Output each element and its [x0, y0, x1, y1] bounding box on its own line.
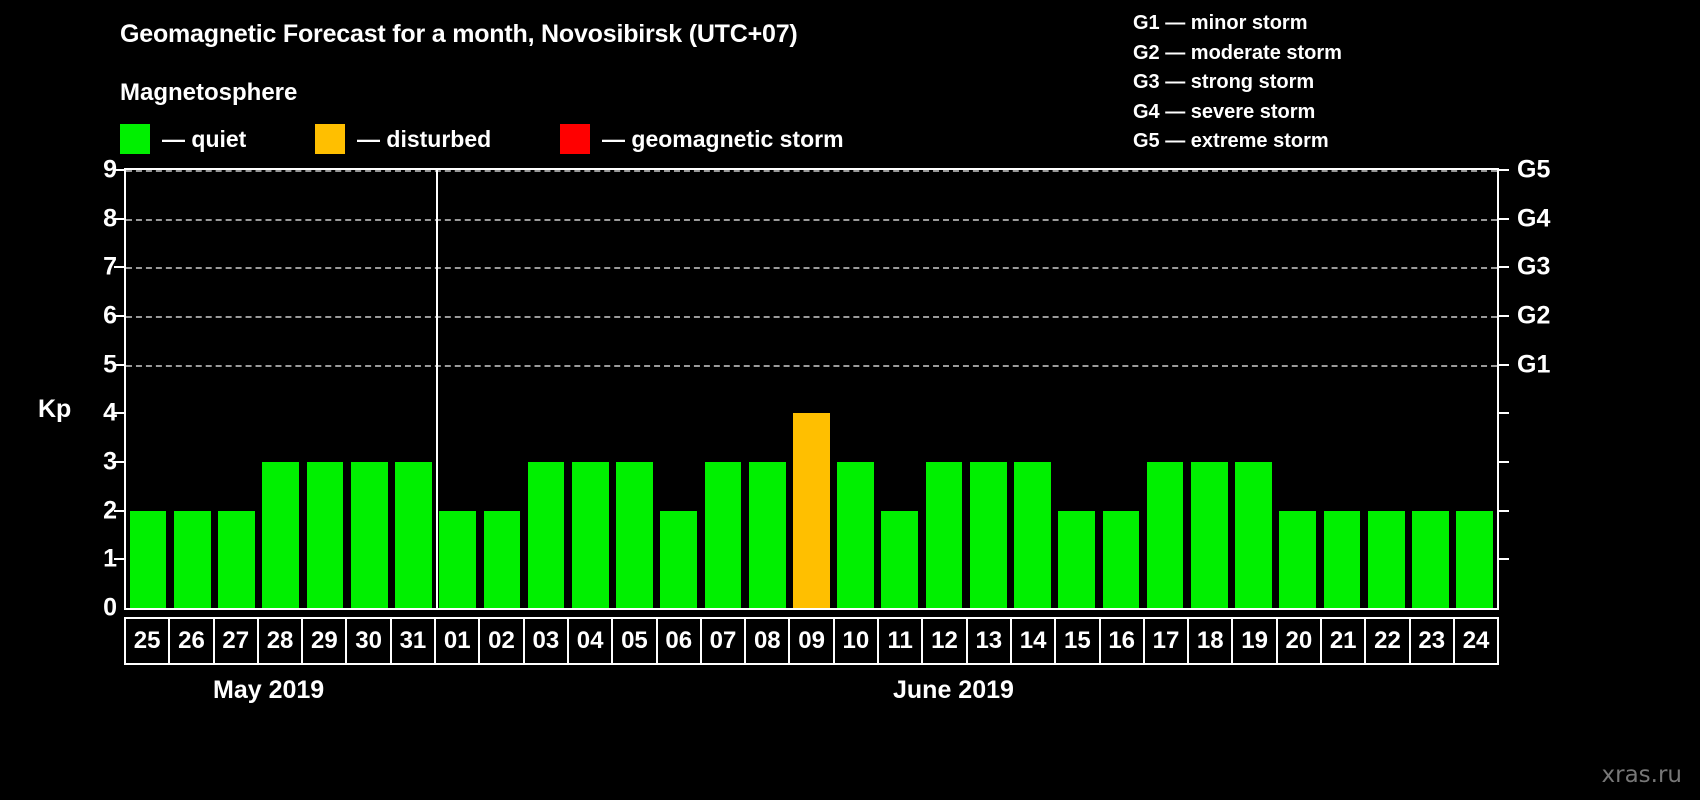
- bar-slot[interactable]: [436, 170, 480, 608]
- g-tick-mark-6: [1499, 315, 1509, 317]
- bar-slot[interactable]: [480, 170, 524, 608]
- g-axis-label-G1: G1: [1517, 350, 1550, 379]
- bar-slot[interactable]: [1231, 170, 1275, 608]
- watermark: xras.ru: [1602, 762, 1683, 788]
- y-tick-label-9: 9: [77, 156, 117, 185]
- g-scale-row-1: G1 — minor storm: [1133, 9, 1342, 39]
- bar[interactable]: [439, 511, 476, 608]
- y-tick-mark-2: [114, 510, 124, 512]
- date-cell[interactable]: 15: [1054, 617, 1100, 665]
- date-cell[interactable]: 12: [921, 617, 967, 665]
- bar[interactable]: [660, 511, 697, 608]
- bar-slot[interactable]: [1055, 170, 1099, 608]
- y-tick-label-0: 0: [77, 594, 117, 623]
- bar-slot[interactable]: [1276, 170, 1320, 608]
- bar[interactable]: [484, 511, 521, 608]
- bar-slot[interactable]: [214, 170, 258, 608]
- plot-inner: [126, 170, 1497, 608]
- g-scale-row-4: G4 — severe storm: [1133, 98, 1342, 128]
- page-title: Geomagnetic Forecast for a month, Novosi…: [120, 20, 798, 49]
- date-cell[interactable]: 28: [257, 617, 303, 665]
- bar[interactable]: [1014, 462, 1051, 608]
- bar-slot[interactable]: [1099, 170, 1143, 608]
- y-tick-mark-3: [114, 461, 124, 463]
- g-axis-label-G5: G5: [1517, 156, 1550, 185]
- bar-slot[interactable]: [170, 170, 214, 608]
- g-axis-label-G2: G2: [1517, 302, 1550, 331]
- y-tick-label-7: 7: [77, 253, 117, 282]
- bar[interactable]: [218, 511, 255, 608]
- month-separator: [436, 170, 438, 608]
- y-tick-label-1: 1: [77, 545, 117, 574]
- bar[interactable]: [1368, 511, 1405, 608]
- date-cell[interactable]: 03: [523, 617, 569, 665]
- g-scale-legend: G1 — minor stormG2 — moderate stormG3 — …: [1133, 9, 1342, 157]
- storm-swatch: [560, 124, 590, 154]
- bar[interactable]: [1324, 511, 1361, 608]
- y-tick-mark-6: [114, 315, 124, 317]
- bar[interactable]: [616, 462, 653, 608]
- g-axis-label-G4: G4: [1517, 204, 1550, 233]
- date-cell[interactable]: 24: [1453, 617, 1499, 665]
- bar[interactable]: [1235, 462, 1272, 608]
- bar-slot[interactable]: [1453, 170, 1497, 608]
- bar[interactable]: [307, 462, 344, 608]
- bar-slot[interactable]: [1364, 170, 1408, 608]
- date-cell[interactable]: 08: [744, 617, 790, 665]
- date-cell[interactable]: 22: [1364, 617, 1410, 665]
- bar[interactable]: [1058, 511, 1095, 608]
- g-scale-row-5: G5 — extreme storm: [1133, 127, 1342, 157]
- date-cell[interactable]: 06: [656, 617, 702, 665]
- bar-slot[interactable]: [347, 170, 391, 608]
- date-cell[interactable]: 31: [390, 617, 436, 665]
- bar[interactable]: [970, 462, 1007, 608]
- bar-slot[interactable]: [1143, 170, 1187, 608]
- date-cell[interactable]: 19: [1231, 617, 1277, 665]
- date-axis-row: 2526272829303101020304050607080910111213…: [124, 617, 1499, 665]
- y-tick-mark-7: [114, 266, 124, 268]
- bar-slot[interactable]: [657, 170, 701, 608]
- month-label-june: June 2019: [893, 676, 1014, 705]
- bar[interactable]: [881, 511, 918, 608]
- bar[interactable]: [1103, 511, 1140, 608]
- date-cell[interactable]: 07: [700, 617, 746, 665]
- date-cell[interactable]: 05: [611, 617, 657, 665]
- bar-slot[interactable]: [834, 170, 878, 608]
- bar-slot[interactable]: [1320, 170, 1364, 608]
- bar-slot[interactable]: [303, 170, 347, 608]
- date-cell[interactable]: 16: [1099, 617, 1145, 665]
- date-cell[interactable]: 18: [1187, 617, 1233, 665]
- bar[interactable]: [174, 511, 211, 608]
- date-cell[interactable]: 26: [168, 617, 214, 665]
- date-cell[interactable]: 17: [1143, 617, 1189, 665]
- bar[interactable]: [1456, 511, 1493, 608]
- bar[interactable]: [926, 462, 963, 608]
- g-tick-mark-8: [1499, 218, 1509, 220]
- bar[interactable]: [749, 462, 786, 608]
- y-tick-mark-8: [114, 218, 124, 220]
- bar[interactable]: [1191, 462, 1228, 608]
- y-tick-mark-9: [114, 169, 124, 171]
- g-tick-mark-2: [1499, 510, 1509, 512]
- g-tick-mark-5: [1499, 364, 1509, 366]
- month-label-may: May 2019: [213, 676, 324, 705]
- bar-slot[interactable]: [391, 170, 435, 608]
- bar[interactable]: [395, 462, 432, 608]
- date-cell[interactable]: 01: [434, 617, 480, 665]
- bar[interactable]: [1412, 511, 1449, 608]
- date-cell[interactable]: 21: [1320, 617, 1366, 665]
- bar-slot[interactable]: [966, 170, 1010, 608]
- bar[interactable]: [528, 462, 565, 608]
- bar-slot[interactable]: [789, 170, 833, 608]
- g-tick-mark-1: [1499, 558, 1509, 560]
- bar-slot[interactable]: [612, 170, 656, 608]
- bar[interactable]: [262, 462, 299, 608]
- g-tick-mark-4: [1499, 412, 1509, 414]
- y-axis-title: Kp: [38, 395, 71, 424]
- g-tick-mark-9: [1499, 169, 1509, 171]
- y-tick-mark-4: [114, 412, 124, 414]
- plot-area: [124, 168, 1499, 610]
- g-axis-label-G3: G3: [1517, 253, 1550, 282]
- bar-slot[interactable]: [745, 170, 789, 608]
- y-tick-label-2: 2: [77, 496, 117, 525]
- quiet-swatch: [120, 124, 150, 154]
- g-scale-row-3: G3 — strong storm: [1133, 68, 1342, 98]
- date-cell[interactable]: 29: [301, 617, 347, 665]
- bar-slot[interactable]: [1187, 170, 1231, 608]
- y-tick-mark-5: [114, 364, 124, 366]
- bar-slot[interactable]: [126, 170, 170, 608]
- date-cell[interactable]: 27: [213, 617, 259, 665]
- date-cell[interactable]: 04: [567, 617, 613, 665]
- bar[interactable]: [1279, 511, 1316, 608]
- legend-entry-disturbed: — disturbed: [315, 122, 491, 156]
- date-cell[interactable]: 10: [833, 617, 879, 665]
- y-tick-mark-1: [114, 558, 124, 560]
- date-cell[interactable]: 23: [1409, 617, 1455, 665]
- bars-layer: [126, 170, 1497, 608]
- bar-slot[interactable]: [524, 170, 568, 608]
- bar[interactable]: [837, 462, 874, 608]
- y-tick-label-5: 5: [77, 350, 117, 379]
- legend-label: — quiet: [162, 126, 246, 153]
- bar-slot[interactable]: [1408, 170, 1452, 608]
- bar[interactable]: [572, 462, 609, 608]
- magnetosphere-section-label: Magnetosphere: [120, 79, 297, 107]
- legend-label: — geomagnetic storm: [602, 126, 844, 153]
- y-tick-label-4: 4: [77, 399, 117, 428]
- bar[interactable]: [705, 462, 742, 608]
- legend-entry-storm: — geomagnetic storm: [560, 122, 844, 156]
- bar-slot[interactable]: [878, 170, 922, 608]
- bar-slot[interactable]: [922, 170, 966, 608]
- y-tick-label-8: 8: [77, 204, 117, 233]
- date-cell[interactable]: 25: [124, 617, 170, 665]
- date-cell[interactable]: 14: [1010, 617, 1056, 665]
- g-scale-row-2: G2 — moderate storm: [1133, 39, 1342, 69]
- bar[interactable]: [793, 413, 830, 608]
- y-tick-label-6: 6: [77, 302, 117, 331]
- legend-entry-quiet: — quiet: [120, 122, 246, 156]
- y-tick-label-3: 3: [77, 448, 117, 477]
- bar[interactable]: [1147, 462, 1184, 608]
- legend-label: — disturbed: [357, 126, 491, 153]
- bar-slot[interactable]: [259, 170, 303, 608]
- date-cell[interactable]: 02: [478, 617, 524, 665]
- date-cell[interactable]: 13: [966, 617, 1012, 665]
- disturbed-swatch: [315, 124, 345, 154]
- bar-slot[interactable]: [1010, 170, 1054, 608]
- g-tick-mark-7: [1499, 266, 1509, 268]
- bar-slot[interactable]: [701, 170, 745, 608]
- date-cell[interactable]: 30: [345, 617, 391, 665]
- date-cell[interactable]: 11: [877, 617, 923, 665]
- g-tick-mark-3: [1499, 461, 1509, 463]
- date-cell[interactable]: 20: [1276, 617, 1322, 665]
- date-cell[interactable]: 09: [788, 617, 834, 665]
- bar[interactable]: [130, 511, 167, 608]
- bar-slot[interactable]: [568, 170, 612, 608]
- bar[interactable]: [351, 462, 388, 608]
